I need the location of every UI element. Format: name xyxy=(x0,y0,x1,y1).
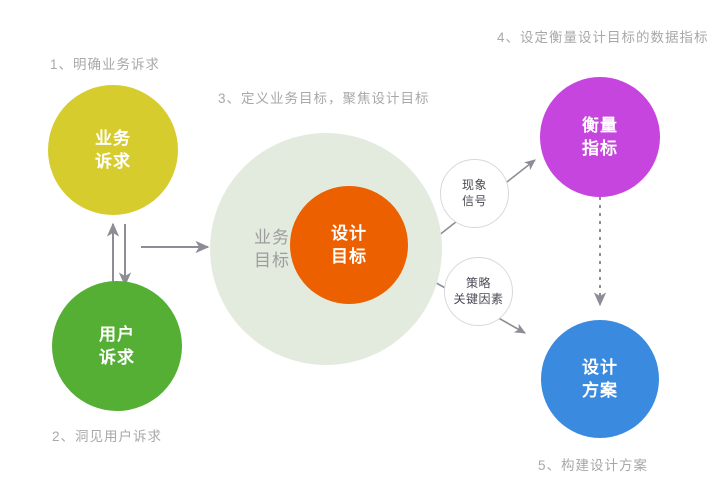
node-business-goal-line2: 目标 xyxy=(254,249,290,272)
pill-phenomenon-signal[interactable]: 现象 信号 xyxy=(440,159,509,228)
node-business-goal-line1: 业务 xyxy=(254,226,290,249)
node-measure-index[interactable]: 衡量 指标 xyxy=(540,77,660,197)
caption-step3: 3、定义业务目标，聚焦设计目标 xyxy=(218,92,430,106)
node-design-goal[interactable]: 设计 目标 xyxy=(290,186,408,304)
node-design-goal-line1: 设计 xyxy=(331,222,367,245)
pill-phenomenon-signal-line2: 信号 xyxy=(462,194,487,210)
node-design-goal-line2: 目标 xyxy=(331,245,367,268)
caption-step4: 4、设定衡量设计目标的数据指标 xyxy=(497,31,709,45)
node-business-demand-line2: 诉求 xyxy=(95,150,131,173)
node-design-solution-line2: 方案 xyxy=(582,379,618,402)
node-measure-index-line2: 指标 xyxy=(582,137,618,160)
node-design-solution[interactable]: 设计 方案 xyxy=(541,320,659,438)
caption-step5: 5、构建设计方案 xyxy=(538,459,648,473)
connector-demand-exchange xyxy=(113,224,125,285)
node-business-demand-line1: 业务 xyxy=(95,127,131,150)
pill-phenomenon-signal-line1: 现象 xyxy=(462,178,487,194)
caption-step1: 1、明确业务诉求 xyxy=(50,58,160,72)
node-business-demand[interactable]: 业务 诉求 xyxy=(48,85,178,215)
node-measure-index-line1: 衡量 xyxy=(582,114,618,137)
pill-strategy-key-factor-line1: 策略 xyxy=(466,276,491,292)
node-design-solution-line1: 设计 xyxy=(582,356,618,379)
node-user-demand-line2: 诉求 xyxy=(99,346,135,369)
diagram-canvas: design solution --> 业务 诉求 用户 诉求 业务 目标 设计… xyxy=(0,0,720,500)
pill-strategy-key-factor-line2: 关键因素 xyxy=(453,292,503,308)
pill-strategy-key-factor[interactable]: 策略 关键因素 xyxy=(444,257,513,326)
node-user-demand[interactable]: 用户 诉求 xyxy=(52,281,182,411)
caption-step2: 2、洞见用户诉求 xyxy=(52,430,162,444)
node-user-demand-line1: 用户 xyxy=(99,323,135,346)
